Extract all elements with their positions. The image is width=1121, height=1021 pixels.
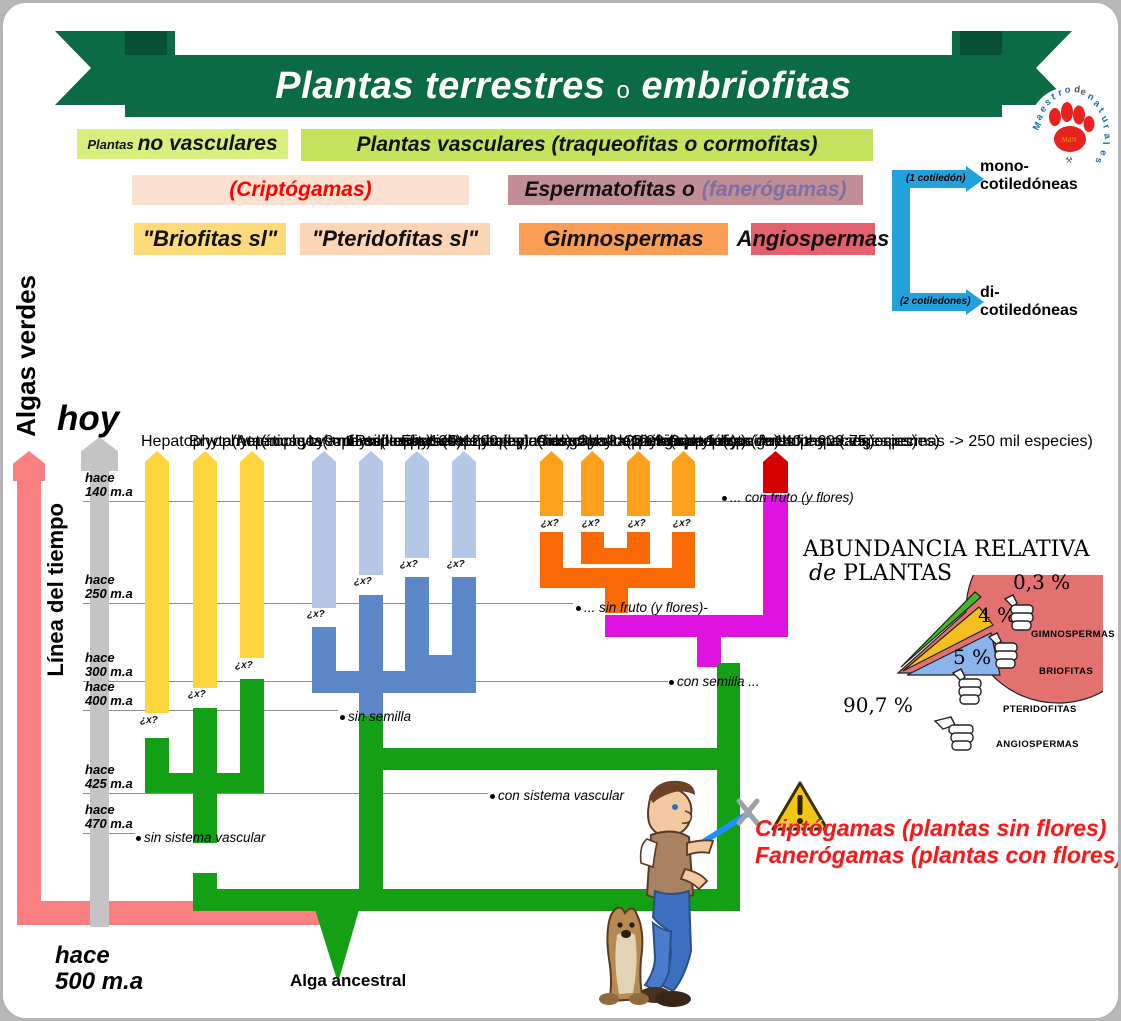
svg-text:l: l <box>1100 142 1111 145</box>
uncertain-gnetophyta: ¿x? <box>673 518 691 529</box>
uncertain-bryophyta: ¿x? <box>188 689 206 700</box>
band-angiospermas: Angiospermas <box>751 223 875 255</box>
banner-title-bar: Plantas terrestres o embriofitas <box>125 55 1002 117</box>
page-title: Plantas terrestres o embriofitas <box>275 65 851 108</box>
boy-with-dog-icon <box>599 773 789 1013</box>
timeline-axis-label: Línea del tiempo <box>43 503 69 677</box>
paw-print-icon: MdN M a e s t r o d e n a t u r a l <box>1025 81 1113 169</box>
tick-140: hace140 m.a <box>85 471 133 499</box>
annotation-sin-fruto: ... sin fruto (y flores)- <box>576 600 708 615</box>
band-no-vasculares: Plantas no vasculares <box>77 129 288 159</box>
tick-470: hace470 m.a <box>85 803 133 831</box>
pointing-hand-icon-angiospermas <box>933 715 993 757</box>
branch-equisetophyta <box>405 473 429 558</box>
band-briofitas: "Briofitas sl" <box>134 223 286 255</box>
pie-value-angiospermas: 90,7 % <box>843 693 913 717</box>
orange-join-cycad-conifer <box>581 548 650 564</box>
branch-lycophyta <box>312 473 336 608</box>
pointing-hand-icon-pteridofitas <box>947 667 993 713</box>
annotation-sin-sistema-vascular: sin sistema vascular <box>136 830 266 845</box>
branch-pteridophyta <box>452 473 476 558</box>
algas-verdes-bar <box>17 473 41 925</box>
algas-verdes-arrowhead <box>13 451 45 481</box>
timeline-origin-label: hace 500 m.a <box>55 943 143 995</box>
uncertain-ginkgophyta: ¿x? <box>541 518 559 529</box>
band-vasculares: Plantas vasculares (traqueofitas o cormo… <box>301 129 873 161</box>
svg-text:e: e <box>1097 150 1109 157</box>
uncertain-coniferophyta: ¿x? <box>628 518 646 529</box>
green-stem-vascular-down <box>359 770 383 890</box>
uncertain-lycophyta: ¿x? <box>307 609 325 620</box>
green-bar-vascular <box>359 748 740 770</box>
pie-legend-angiospermas: ANGIOSPERMAS <box>996 739 1079 750</box>
mono-cotyledon-note: (1 cotiledón) <box>906 173 965 184</box>
magenta-join-seed <box>605 615 788 637</box>
today-label: hoy <box>57 399 119 439</box>
uncertain-pteridophyta: ¿x? <box>447 559 465 570</box>
branch-hepatophyta <box>145 473 169 713</box>
blue-join-pteridofitas <box>312 671 476 693</box>
annotation-con-fruto: ... con fruto (y flores) <box>722 490 854 505</box>
logo: MdN M a e s t r o d e n a t u r a l <box>1025 81 1113 169</box>
band-criptogamas: (Criptógamas) <box>132 175 469 205</box>
annotation-sin-semilla: sin semilla <box>340 709 411 724</box>
pie-legend-pteridofitas: PTERIDOFITAS <box>1003 704 1077 715</box>
pointer-stick-icon <box>705 801 757 841</box>
branch-bryophyta <box>193 473 217 688</box>
band-pteridofitas: "Pteridofitas sl" <box>300 223 490 255</box>
branch-psilotophyta <box>359 473 383 575</box>
tick-300: hace300 m.a <box>85 651 133 679</box>
band-espermatofitas: Espermatofitas o (fanerógamas) <box>508 175 863 205</box>
root-label: Alga ancestral <box>290 971 406 991</box>
pie-legend-briofitas: BRIOFITAS <box>1039 666 1093 677</box>
branch-ginkgophyta <box>540 473 563 516</box>
branch-coniferophyta <box>627 473 650 516</box>
band-gimnospermas: Gimnospermas <box>519 223 728 255</box>
pie-chart-title-line1: ABUNDANCIA RELATIVA <box>803 537 1090 562</box>
svg-text:MdN: MdN <box>1062 136 1077 144</box>
pie-value-gimnospermas: 0,3 % <box>1013 570 1070 594</box>
svg-text:o: o <box>1064 84 1071 96</box>
uncertain-cycadophyta: ¿x? <box>582 518 600 529</box>
dog-icon <box>599 907 649 1005</box>
branch-cycadophyta <box>581 473 604 516</box>
uncertain-equisetophyta: ¿x? <box>400 559 418 570</box>
annotation-con-semilla: con semilla ... <box>669 674 760 689</box>
orange-join-gimnospermas <box>540 568 695 588</box>
uncertain-psilotophyta: ¿x? <box>354 576 372 587</box>
mono-cotyledon-label: mono- cotiledóneas <box>980 158 1078 194</box>
branch-anterophyta <box>240 473 264 658</box>
footnote-text: Criptógamas (plantas sin flores) Faneróg… <box>755 815 1121 869</box>
gridline-425 <box>83 793 488 794</box>
algas-verdes-label: Algas verdes <box>11 275 42 437</box>
green-join-briofitas <box>145 773 264 793</box>
tick-250: hace250 m.a <box>85 573 133 601</box>
title-banner: Plantas terrestres o embriofitas <box>3 15 1121 125</box>
tick-400: hace400 m.a <box>85 680 133 708</box>
uncertain-anterophyta: ¿x? <box>235 660 253 671</box>
taxon-label-anthophyta: Anthophyta(angiospermas -> 250 mil espec… <box>758 261 1093 451</box>
svg-text:s: s <box>1092 156 1104 165</box>
infographic-root: Plantas terrestres o embriofitas MdN M a… <box>0 0 1121 1021</box>
uncertain-hepatophyta: ¿x? <box>140 715 158 726</box>
branch-gnetophyta <box>672 473 695 516</box>
timeline-arrow-head <box>81 437 118 471</box>
tick-425: hace425 m.a <box>85 763 133 791</box>
